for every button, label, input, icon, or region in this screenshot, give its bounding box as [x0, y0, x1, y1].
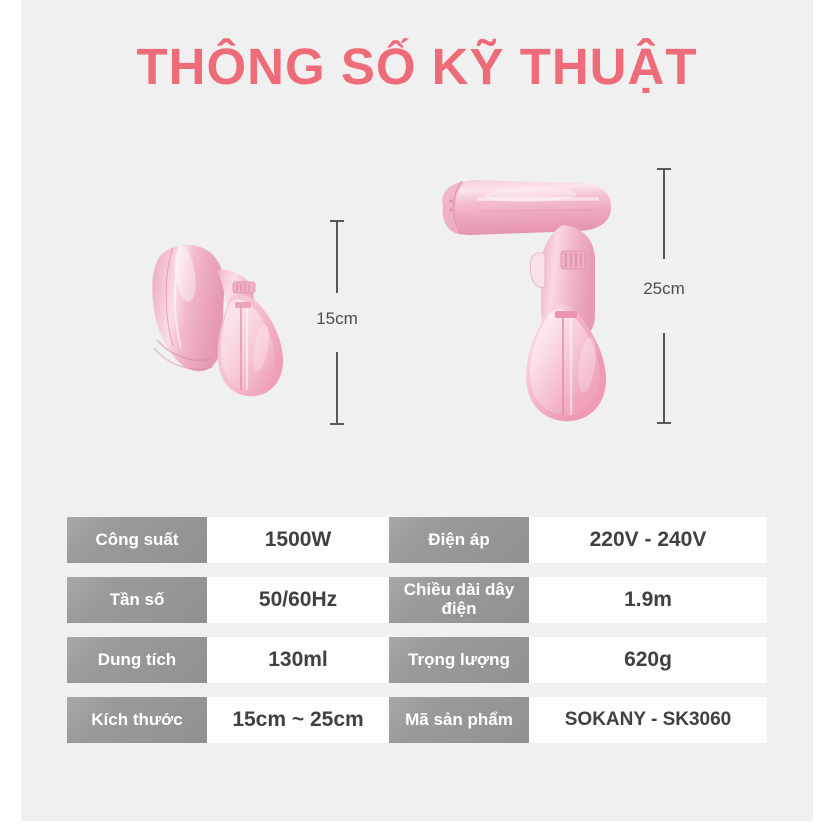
dimension-marker-15cm: 15cm — [307, 220, 367, 425]
product-illustration-area: 15cm — [21, 140, 813, 470]
spec-sheet-page: THÔNG SỐ KỸ THUẬT — [0, 0, 835, 835]
garment-steamer-folded-image — [129, 218, 299, 418]
spec-label-model: Mã sản phẩm — [389, 697, 529, 743]
table-row: Tần số 50/60Hz Chiều dài dây điện 1.9m — [67, 577, 767, 623]
dimension-marker-25cm: 25cm — [633, 168, 695, 424]
spec-label-size: Kích thước — [67, 697, 207, 743]
spec-value-power: 1500W — [207, 517, 389, 563]
dim-line-lower — [336, 352, 338, 424]
spec-label-frequency: Tần số — [67, 577, 207, 623]
dimension-label-25cm: 25cm — [639, 278, 689, 300]
spec-label-cord-length: Chiều dài dây điện — [389, 577, 529, 623]
spec-value-voltage: 220V - 240V — [529, 517, 767, 563]
dimension-label-15cm: 15cm — [312, 308, 362, 330]
spec-label-capacity: Dung tích — [67, 637, 207, 683]
spec-value-frequency: 50/60Hz — [207, 577, 389, 623]
spec-value-weight: 620g — [529, 637, 767, 683]
dim-cap-bottom — [330, 423, 344, 425]
spec-value-model: SOKANY - SK3060 — [529, 697, 767, 743]
dim-line-upper — [336, 221, 338, 293]
spec-label-weight: Trọng lượng — [389, 637, 529, 683]
specifications-table: Công suất 1500W Điện áp 220V - 240V Tần … — [67, 517, 767, 743]
table-row: Kích thước 15cm ~ 25cm Mã sản phẩm SOKAN… — [67, 697, 767, 743]
table-row: Dung tích 130ml Trọng lượng 620g — [67, 637, 767, 683]
garment-steamer-open-image — [421, 165, 631, 433]
spec-label-voltage: Điện áp — [389, 517, 529, 563]
dim-line-upper — [663, 169, 665, 259]
dim-cap-bottom — [657, 422, 671, 424]
table-row: Công suất 1500W Điện áp 220V - 240V — [67, 517, 767, 563]
spec-label-power: Công suất — [67, 517, 207, 563]
content-panel: THÔNG SỐ KỸ THUẬT — [21, 0, 813, 821]
page-title: THÔNG SỐ KỸ THUẬT — [21, 38, 813, 97]
spec-value-cord-length: 1.9m — [529, 577, 767, 623]
dim-line-lower — [663, 333, 665, 423]
spec-value-capacity: 130ml — [207, 637, 389, 683]
spec-value-size: 15cm ~ 25cm — [207, 697, 389, 743]
